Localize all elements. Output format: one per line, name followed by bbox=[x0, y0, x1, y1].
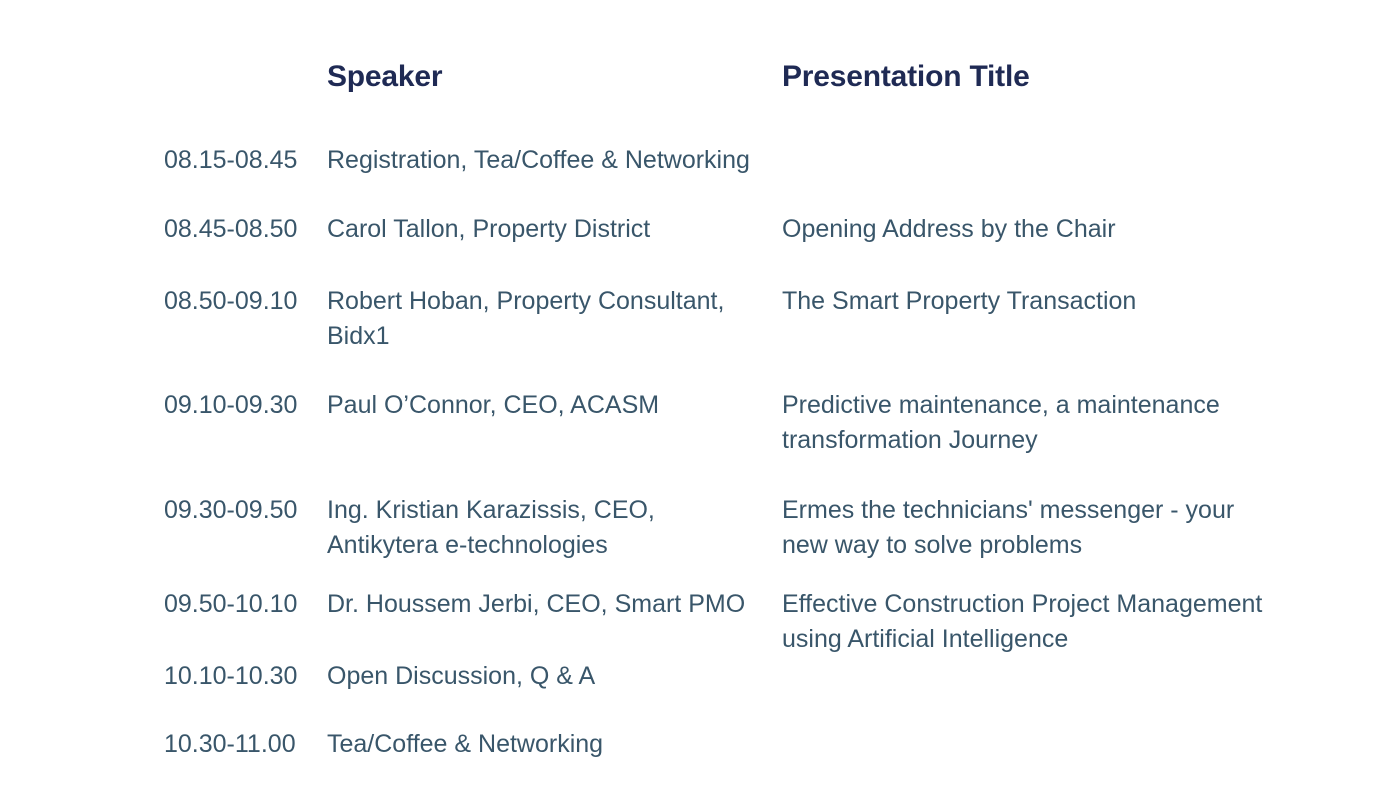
table-header-row: Speaker Presentation Title bbox=[0, 58, 1397, 102]
row-time: 08.15-08.45 bbox=[164, 143, 324, 178]
row-speaker: Dr. Houssem Jerbi, CEO, Smart PMO bbox=[327, 587, 757, 622]
row-speaker: Robert Hoban, Property Consultant, Bidx1 bbox=[327, 284, 757, 354]
row-time: 09.50-10.10 bbox=[164, 587, 324, 622]
agenda-table: Speaker Presentation Title 08.15-08.45Re… bbox=[0, 0, 1397, 805]
row-presentation-title: The Smart Property Transaction bbox=[782, 284, 1272, 319]
row-presentation-title: Effective Construction Project Managemen… bbox=[782, 587, 1272, 657]
row-speaker: Paul O’Connor, CEO, ACASM bbox=[327, 388, 757, 423]
row-presentation-title: Opening Address by the Chair bbox=[782, 212, 1272, 247]
row-time: 08.50-09.10 bbox=[164, 284, 324, 319]
row-time: 09.10-09.30 bbox=[164, 388, 324, 423]
row-speaker: Tea/Coffee & Networking bbox=[327, 727, 757, 762]
column-header-speaker: Speaker bbox=[327, 58, 442, 96]
row-time: 10.10-10.30 bbox=[164, 659, 324, 694]
row-speaker: Registration, Tea/Coffee & Networking bbox=[327, 143, 757, 178]
row-presentation-title: Ermes the technicians' messenger - your … bbox=[782, 493, 1272, 563]
row-presentation-title: Predictive maintenance, a maintenance tr… bbox=[782, 388, 1272, 458]
row-time: 10.30-11.00 bbox=[164, 727, 324, 762]
column-header-presentation-title: Presentation Title bbox=[782, 58, 1030, 96]
row-speaker: Carol Tallon, Property District bbox=[327, 212, 757, 247]
row-time: 09.30-09.50 bbox=[164, 493, 324, 528]
row-speaker: Open Discussion, Q & A bbox=[327, 659, 757, 694]
row-time: 08.45-08.50 bbox=[164, 212, 324, 247]
row-speaker: Ing. Kristian Karazissis, CEO, Antikyter… bbox=[327, 493, 757, 563]
